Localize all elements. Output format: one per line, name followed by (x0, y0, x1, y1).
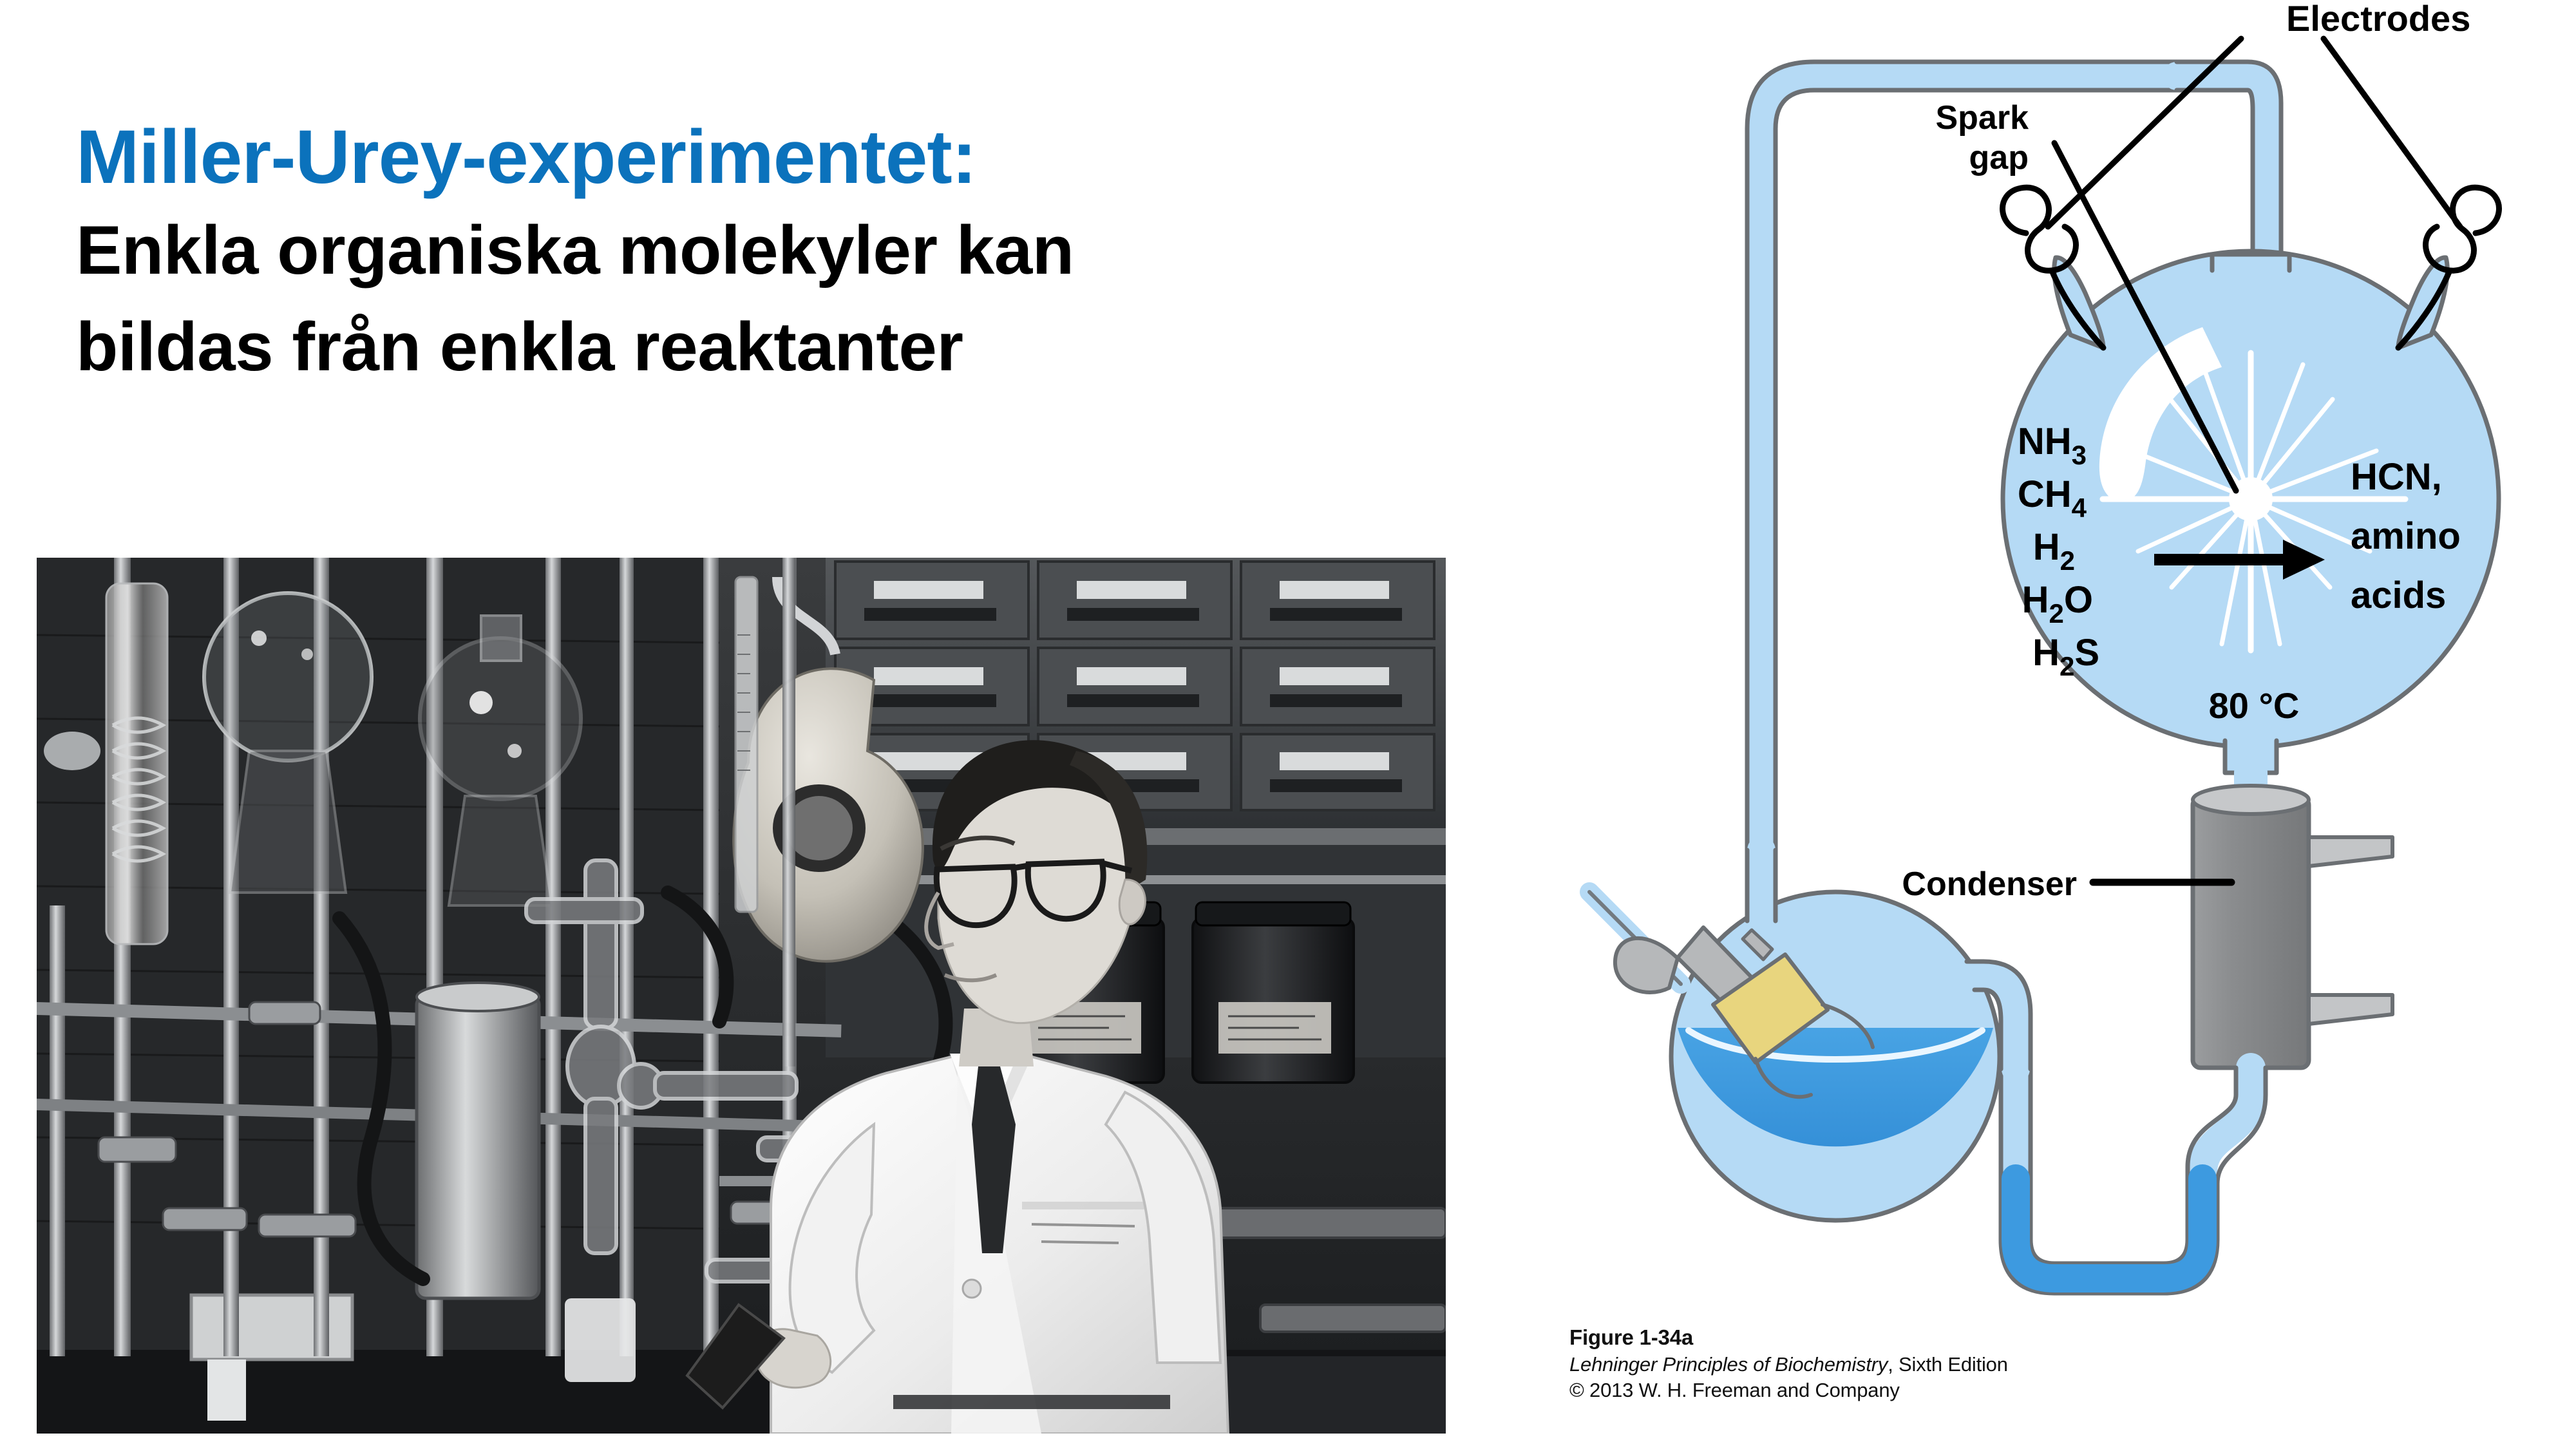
source-title: Lehninger Principles of Biochemistry (1569, 1353, 1888, 1376)
subtitle-line-2: bildas från enkla reaktanter (76, 299, 1235, 395)
figure-copyright: © 2013 W. H. Freeman and Company (1569, 1378, 2278, 1404)
product-line-2: amino (2351, 515, 2461, 557)
apparatus-artwork: Electrodes Spark gap Condenser NH3 CH4 H… (1520, 0, 2576, 1333)
page-subtitle: Enkla organiska molekyler kan bildas frå… (76, 202, 1235, 395)
page-title: Miller-Urey-experimentet: (76, 113, 1235, 202)
product-line-3: acids (2351, 574, 2446, 616)
product-line-1: HCN, (2351, 456, 2442, 498)
spark-gap-label-line2: gap (1969, 139, 2029, 176)
subtitle-line-1: Enkla organiska molekyler kan (76, 202, 1235, 299)
spark-gap-label-line1: Spark (1935, 99, 2029, 137)
photo-artwork (37, 558, 1446, 1434)
slide-root: Miller-Urey-experimentet: Enkla organisk… (0, 0, 2576, 1449)
title-block: Miller-Urey-experimentet: Enkla organisk… (76, 113, 1235, 395)
figure-number: Figure 1-34a (1569, 1323, 2278, 1352)
miller-lab-photograph (37, 558, 1446, 1434)
figure-source: Lehninger Principles of Biochemistry, Si… (1569, 1352, 2278, 1378)
electrodes-label: Electrodes (2286, 0, 2470, 39)
condenser-label: Condenser (1902, 866, 2077, 903)
figure-caption: Figure 1-34a Lehninger Principles of Bio… (1569, 1323, 2278, 1404)
source-edition: , Sixth Edition (1888, 1353, 2008, 1376)
miller-urey-apparatus-diagram: Electrodes Spark gap Condenser NH3 CH4 H… (1520, 0, 2576, 1333)
temperature-label: 80 °C (2209, 685, 2300, 726)
